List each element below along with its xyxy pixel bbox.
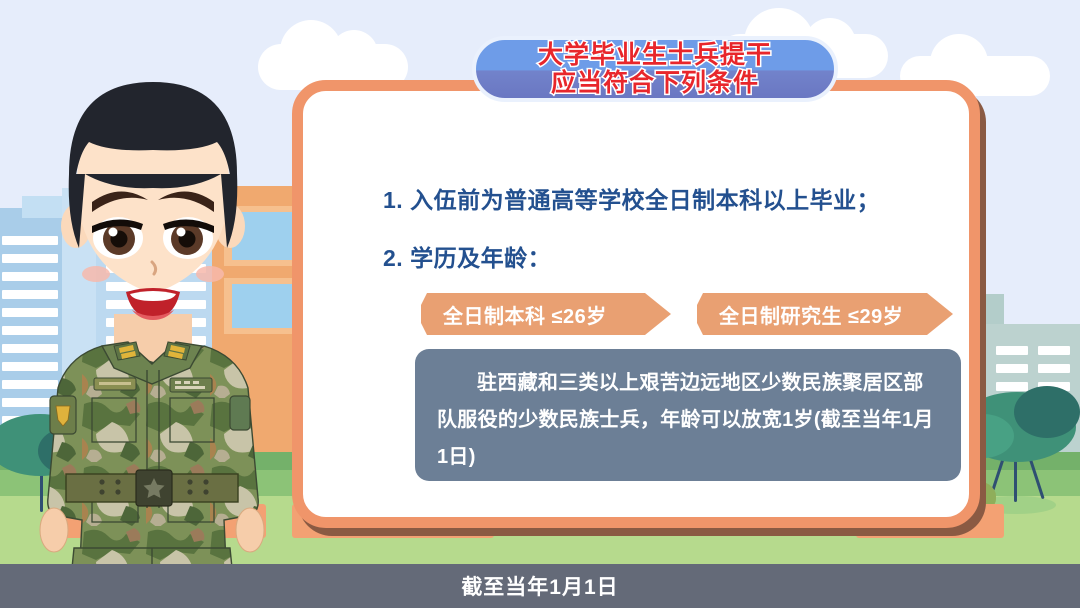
clause-item-2: 2. 学历及年龄： <box>383 239 551 273</box>
soldier-character <box>18 78 288 608</box>
title-line-2: 应当符合下列条件 <box>551 69 759 97</box>
info-card: 1. 入伍前为普通高等学校全日制本科以上毕业； 2. 学历及年龄： 全日制本科 … <box>292 80 980 528</box>
clause-item-1: 1. 入伍前为普通高等学校全日制本科以上毕业； <box>383 181 880 215</box>
poster-stage: 1. 入伍前为普通高等学校全日制本科以上毕业； 2. 学历及年龄： 全日制本科 … <box>0 0 1080 608</box>
title-banner: 大学毕业生士兵提干 应当符合下列条件 <box>472 36 838 102</box>
badge-undergraduate-age: 全日制本科 ≤26岁 <box>421 293 671 335</box>
badge-postgraduate-age: 全日制研究生 ≤29岁 <box>697 293 953 335</box>
bottom-caption: 截至当年1月1日 <box>0 564 1080 608</box>
title-line-1: 大学毕业生士兵提干 <box>538 41 772 69</box>
special-note-box: 驻西藏和三类以上艰苦边远地区少数民族聚居区部队服役的少数民族士兵，年龄可以放宽1… <box>415 349 961 481</box>
card-content: 1. 入伍前为普通高等学校全日制本科以上毕业； 2. 学历及年龄： 全日制本科 … <box>303 91 969 517</box>
